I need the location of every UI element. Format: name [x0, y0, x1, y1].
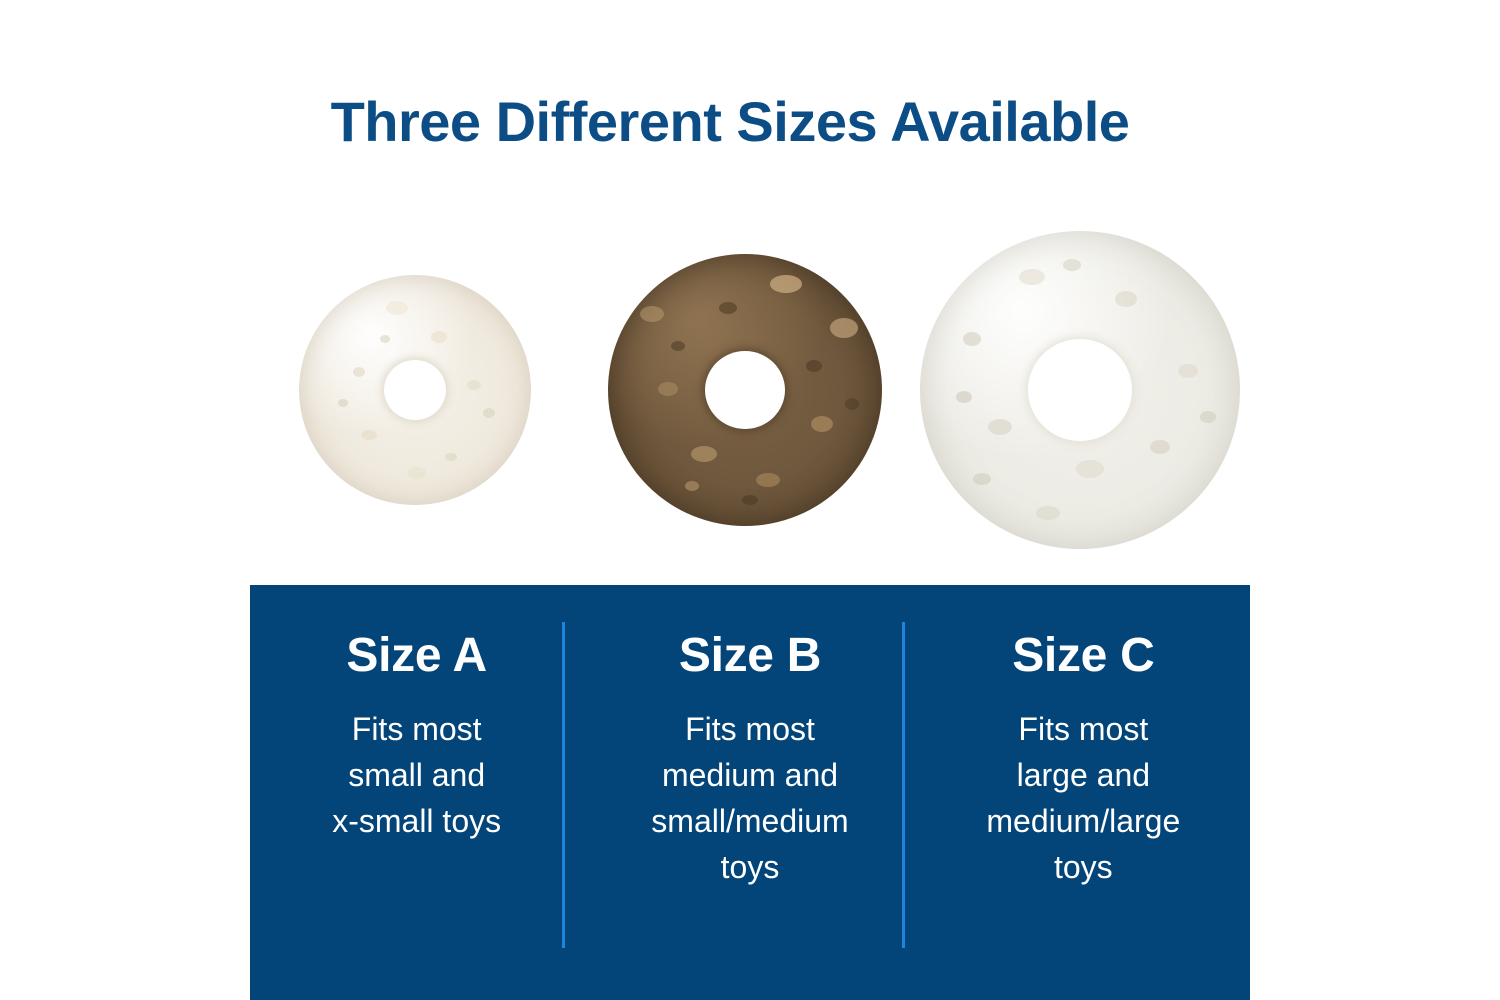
ring-center-hole-small — [384, 360, 446, 420]
product-image-slot-size-a — [250, 215, 580, 565]
size-a-heading: Size A — [268, 628, 565, 684]
ring-center-hole-large — [1028, 339, 1132, 441]
ring-center-hole-medium — [705, 351, 785, 429]
sizes-infographic: Three Different Sizes Available — [0, 0, 1500, 1000]
ring-treat-large-white-icon — [920, 231, 1240, 549]
ring-treat-medium-brown-icon — [608, 254, 882, 526]
ring-treat-small-cream-icon — [299, 275, 531, 505]
size-column-b: Size B Fits most medium and small/medium… — [583, 585, 916, 1000]
size-b-description: Fits most medium and small/medium toys — [601, 706, 898, 890]
size-comparison-banner: Size A Fits most small and x-small toys … — [250, 585, 1250, 1000]
size-column-a: Size A Fits most small and x-small toys — [250, 585, 583, 1000]
size-c-description: Fits most large and medium/large toys — [935, 706, 1232, 890]
size-c-heading: Size C — [935, 628, 1232, 684]
product-image-slot-size-b — [580, 215, 910, 565]
product-image-slot-size-c — [905, 215, 1255, 565]
size-b-heading: Size B — [601, 628, 898, 684]
size-a-description: Fits most small and x-small toys — [268, 706, 565, 844]
page-title-container: Three Different Sizes Available — [0, 52, 1460, 191]
size-column-c: Size C Fits most large and medium/large … — [917, 585, 1250, 1000]
product-images-row — [0, 215, 1500, 565]
page-title: Three Different Sizes Available — [331, 90, 1130, 154]
